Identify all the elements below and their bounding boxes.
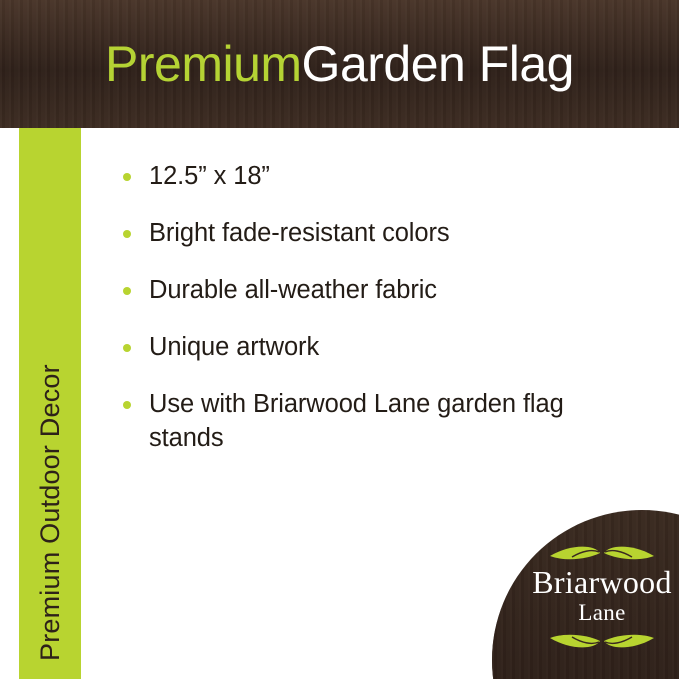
side-band-label: Premium Outdoor Decor <box>19 128 81 679</box>
list-item: Use with Briarwood Lane garden flag stan… <box>121 388 641 456</box>
page-title-rest: Garden Flag <box>302 35 574 93</box>
header-bar: Premium Garden Flag <box>0 0 679 128</box>
leaf-flourish-icon <box>542 630 662 652</box>
list-item-label: Use with Briarwood Lane garden flag stan… <box>149 390 564 452</box>
list-item-label: 12.5” x 18” <box>149 162 270 190</box>
brand-logo: Briarwood Lane <box>492 542 679 652</box>
brand-name-secondary: Lane <box>492 600 679 626</box>
product-info-graphic: Premium Garden Flag Premium Outdoor Deco… <box>0 0 679 679</box>
bullet-dot-icon <box>123 230 131 238</box>
bullet-dot-icon <box>123 344 131 352</box>
brand-badge: Briarwood Lane <box>492 510 679 679</box>
list-item-label: Durable all-weather fabric <box>149 276 437 304</box>
leaf-flourish-icon <box>542 542 662 564</box>
brand-name-primary: Briarwood <box>492 566 679 600</box>
bullet-dot-icon <box>123 401 131 409</box>
list-item-label: Bright fade-resistant colors <box>149 219 450 247</box>
list-item: Bright fade-resistant colors <box>121 217 641 251</box>
list-item-label: Unique artwork <box>149 333 319 361</box>
bullet-dot-icon <box>123 287 131 295</box>
feature-list: 12.5” x 18” Bright fade-resistant colors… <box>121 160 641 478</box>
list-item: 12.5” x 18” <box>121 160 641 194</box>
page-title-highlight: Premium <box>105 35 302 93</box>
list-item: Durable all-weather fabric <box>121 274 641 308</box>
bullet-dot-icon <box>123 173 131 181</box>
page-title: Premium Garden Flag <box>0 0 679 128</box>
list-item: Unique artwork <box>121 331 641 365</box>
